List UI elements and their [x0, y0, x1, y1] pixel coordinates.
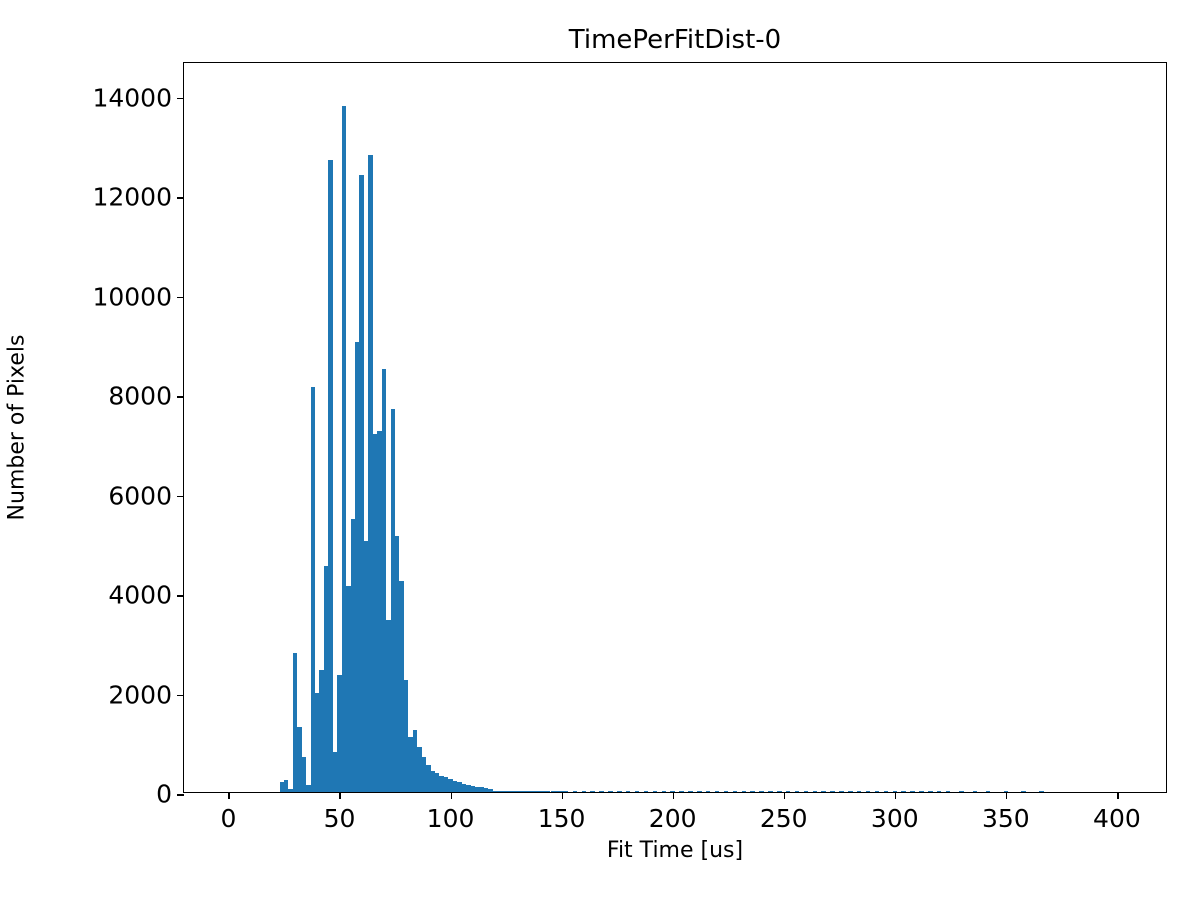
histogram-bar	[635, 791, 639, 792]
histogram-bar	[688, 791, 692, 792]
y-tick-label: 12000	[92, 183, 172, 212]
histogram-bar	[866, 791, 870, 792]
y-tick-mark	[177, 297, 184, 299]
histogram-bar	[573, 791, 577, 792]
histogram-bar	[959, 791, 963, 792]
histogram-bar	[724, 791, 728, 792]
histogram-bar	[910, 791, 914, 792]
histogram-bar	[821, 791, 825, 792]
histogram-bar	[857, 791, 861, 792]
x-axis-label: Fit Time [us]	[183, 838, 1167, 863]
histogram-bar	[750, 791, 754, 792]
x-tick-label: 100	[427, 804, 475, 833]
histogram-bar	[697, 791, 701, 792]
histogram-bar	[928, 791, 932, 792]
plot-area: 02000400060008000100001200014000 0501001…	[183, 62, 1167, 793]
y-tick-label: 10000	[92, 282, 172, 311]
histogram-bar	[884, 791, 888, 792]
x-tick-label: 300	[871, 804, 919, 833]
y-tick-label: 0	[156, 780, 172, 809]
x-tick-label: 0	[220, 804, 236, 833]
x-tick-mark	[228, 792, 230, 799]
chart-title: TimePerFitDist-0	[183, 24, 1167, 56]
histogram-bar	[973, 791, 977, 792]
histogram-bar	[582, 791, 586, 792]
figure-canvas: TimePerFitDist-0 Number of Pixels 020004…	[0, 0, 1200, 900]
histogram-bar	[768, 791, 772, 792]
histogram-bar	[830, 791, 834, 792]
y-tick-mark	[177, 595, 184, 597]
y-tick-label: 6000	[108, 481, 172, 510]
x-tick-mark	[562, 792, 564, 799]
histogram-bar	[813, 791, 817, 792]
histogram-bar	[901, 791, 905, 792]
y-tick-mark	[177, 197, 184, 199]
histogram-bar	[777, 791, 781, 792]
histogram-bar	[599, 791, 603, 792]
y-tick-mark	[177, 98, 184, 100]
histogram-bar	[919, 791, 923, 792]
histogram-bar	[759, 791, 763, 792]
histogram-bar	[617, 791, 621, 792]
histogram-bar	[1021, 791, 1025, 792]
y-tick-mark	[177, 695, 184, 697]
histogram-bar	[626, 791, 630, 792]
x-tick-mark	[451, 792, 453, 799]
histogram-bar	[328, 160, 332, 792]
histogram-bar	[937, 791, 941, 792]
x-tick-label: 350	[982, 804, 1030, 833]
x-tick-label: 150	[538, 804, 586, 833]
x-tick-label: 400	[1093, 804, 1141, 833]
x-tick-mark	[339, 792, 341, 799]
y-axis-label-text: Number of Pixels	[5, 335, 30, 521]
x-tick-mark	[1006, 792, 1008, 799]
histogram-bar	[875, 791, 879, 792]
histogram-bar	[848, 791, 852, 792]
histogram-bar	[795, 791, 799, 792]
x-tick-label: 200	[649, 804, 697, 833]
histogram-bar	[946, 791, 950, 792]
y-tick-label: 2000	[108, 680, 172, 709]
y-axis-label: Number of Pixels	[0, 62, 34, 793]
x-tick-label: 50	[324, 804, 356, 833]
x-tick-mark	[673, 792, 675, 799]
histogram-bar	[986, 791, 990, 792]
histogram-bar	[564, 791, 568, 792]
histogram-bar	[590, 791, 594, 792]
y-tick-mark	[177, 794, 184, 796]
histogram-bar	[804, 791, 808, 792]
histogram-bars	[184, 63, 1166, 792]
y-tick-mark	[177, 496, 184, 498]
histogram-bar	[786, 791, 790, 792]
histogram-bar	[839, 791, 843, 792]
histogram-bar	[662, 791, 666, 792]
histogram-bar	[715, 791, 719, 792]
histogram-bar	[653, 791, 657, 792]
x-tick-mark	[895, 792, 897, 799]
x-tick-label: 250	[760, 804, 808, 833]
histogram-bar	[644, 791, 648, 792]
histogram-bar	[706, 791, 710, 792]
y-tick-mark	[177, 396, 184, 398]
y-tick-label: 4000	[108, 581, 172, 610]
histogram-bar	[733, 791, 737, 792]
histogram-bar	[608, 791, 612, 792]
x-tick-mark	[1117, 792, 1119, 799]
x-tick-mark	[784, 792, 786, 799]
y-tick-label: 8000	[108, 382, 172, 411]
histogram-bar	[679, 791, 683, 792]
y-tick-label: 14000	[92, 83, 172, 112]
histogram-bar	[742, 791, 746, 792]
histogram-bar	[1039, 791, 1043, 792]
